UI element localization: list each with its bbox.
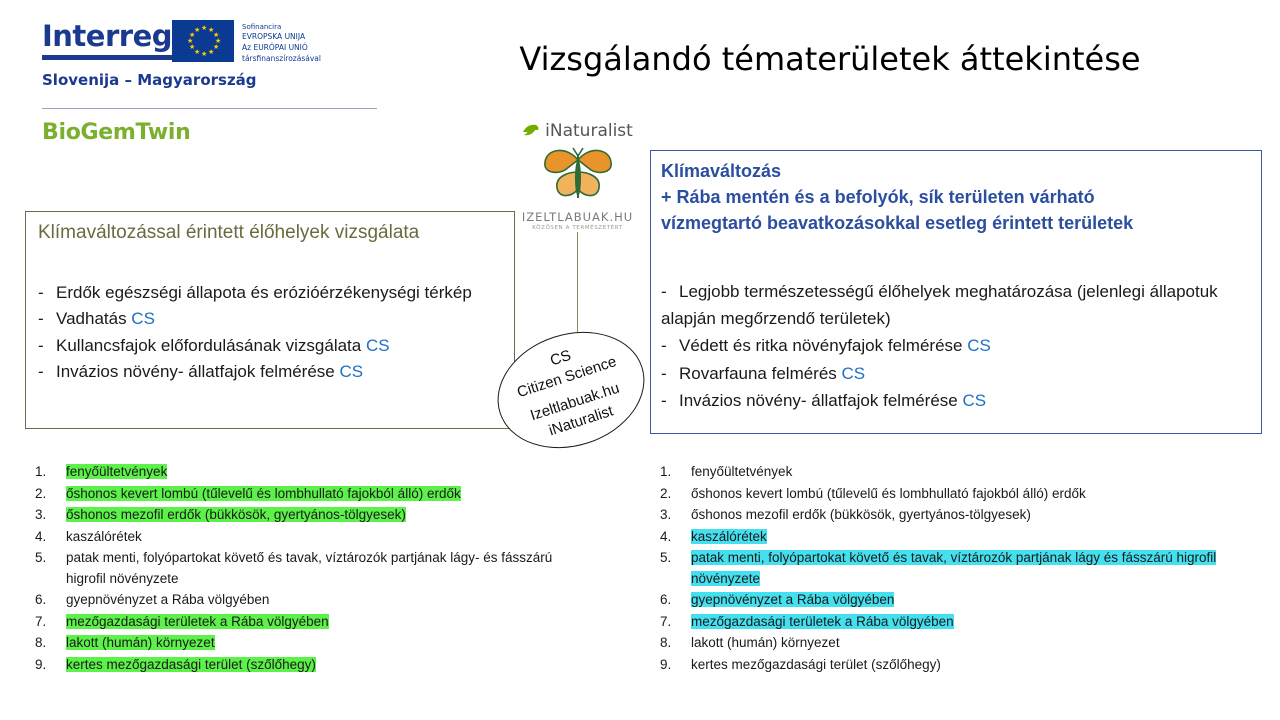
project-name: BioGemTwin — [42, 120, 190, 145]
list-item-text: őshonos mezofil erdők (bükkösök, gyertyá… — [66, 507, 406, 522]
list-item: 1.fenyőültetvények — [655, 462, 1255, 483]
right-box-heading: Klímaváltozás + Rába mentén és a befolyó… — [661, 158, 1261, 236]
list-item-text: őshonos kevert lombú (tűlevelű és lombhu… — [66, 486, 461, 501]
cs-tag: CS — [339, 362, 363, 381]
list-item-text: őshonos kevert lombú (tűlevelű és lombhu… — [691, 486, 1086, 501]
left-box-item-text: Vadhatás — [56, 309, 131, 328]
habitat-list-right: 1.fenyőültetvények2.őshonos kevert lombú… — [655, 462, 1255, 676]
left-box-items: -Erdők egészségi állapota és erózióérzék… — [38, 280, 508, 385]
list-item: 2.őshonos kevert lombú (tűlevelű és lomb… — [30, 484, 590, 505]
left-box-item-text: Invázios növény- állatfajok felmérése — [56, 362, 339, 381]
izeltlabuak-subtitle: KÖZÖSEN A TERMÉSZETÉRT — [505, 225, 650, 231]
list-item: 6.gyepnövényzet a Rába völgyében — [655, 590, 1255, 611]
list-item-text: lakott (humán) környezet — [66, 635, 215, 650]
list-item-text: kertes mezőgazdasági terület (szőlőhegy) — [691, 657, 941, 672]
list-item-number: 8. — [35, 633, 57, 654]
cs-tag: CS — [962, 391, 986, 410]
list-item-number: 3. — [660, 505, 682, 526]
list-item-number: 8. — [660, 633, 682, 654]
eu-text-line-2: EVROPSKA UNIJA — [242, 32, 321, 43]
list-item: 5.patak menti, folyópartokat követő és t… — [655, 548, 1255, 589]
bullet-dash: - — [661, 387, 679, 414]
connector-line — [577, 232, 578, 342]
list-item: 8.lakott (humán) környezet — [655, 633, 1255, 654]
list-item: 9.kertes mezőgazdasági terület (szőlőheg… — [655, 655, 1255, 676]
list-item: 4.kaszálórétek — [655, 527, 1255, 548]
right-box-item: -Védett és ritka növényfajok felmérése C… — [661, 332, 1261, 359]
butterfly-icon — [537, 146, 619, 208]
list-item-number: 6. — [35, 590, 57, 611]
list-item-number: 4. — [660, 527, 682, 548]
left-box-item: -Invázios növény- állatfajok felmérése C… — [38, 359, 508, 385]
list-item-number: 3. — [35, 505, 57, 526]
list-item: 7.mezőgazdasági területek a Rába völgyéb… — [655, 612, 1255, 633]
cs-tag: CS — [967, 336, 991, 355]
bullet-dash: - — [38, 333, 56, 359]
right-box-heading-line-3: vízmegtartó beavatkozásokkal esetleg éri… — [661, 210, 1261, 236]
eu-flag-icon: ★ ★ ★ ★ ★ ★ ★ ★ ★ ★ ★ ★ — [172, 20, 234, 62]
list-item-number: 2. — [660, 484, 682, 505]
right-box-heading-line-2: + Rába mentén és a befolyók, sík terület… — [661, 184, 1261, 210]
eu-text-line-1: Sofinancira — [242, 22, 321, 32]
cs-tag: CS — [366, 336, 390, 355]
list-item-text: lakott (humán) környezet — [691, 635, 840, 650]
cs-tag: CS — [842, 364, 866, 383]
inaturalist-label: iNaturalist — [545, 121, 633, 141]
list-item-text: fenyőültetvények — [66, 464, 167, 479]
cs-tag: CS — [131, 309, 155, 328]
list-item-text: őshonos mezofil erdők (bükkösök, gyertyá… — [691, 507, 1031, 522]
right-box-item: -Rovarfauna felmérés CS — [661, 360, 1261, 387]
list-item: 3.őshonos mezofil erdők (bükkösök, gyert… — [655, 505, 1255, 526]
list-item: 4.kaszálórétek — [30, 527, 590, 548]
list-item-number: 7. — [35, 612, 57, 633]
list-item: 2.őshonos kevert lombú (tűlevelű és lomb… — [655, 484, 1255, 505]
list-item-number: 9. — [35, 655, 57, 676]
eu-cofunding-block: ★ ★ ★ ★ ★ ★ ★ ★ ★ ★ ★ ★ Sofinancira EVRO… — [172, 20, 321, 65]
bird-icon — [522, 123, 540, 139]
list-item: 7.mezőgazdasági területek a Rába völgyéb… — [30, 612, 590, 633]
list-item: 9.kertes mezőgazdasági terület (szőlőheg… — [30, 655, 590, 676]
inaturalist-logo: iNaturalist — [505, 120, 650, 142]
bullet-dash: - — [38, 359, 56, 385]
left-box-item: -Vadhatás CS — [38, 306, 508, 332]
page-title: Vizsgálandó tématerületek áttekintése — [400, 40, 1260, 78]
inaturalist-emblem: iNaturalist IZELTLABUAK.HU KÖZÖSEN A TER… — [505, 120, 650, 231]
list-item-text: patak menti, folyópartokat követő és tav… — [66, 550, 552, 586]
bullet-dash: - — [38, 306, 56, 332]
list-item: 3.őshonos mezofil erdők (bükkösök, gyert… — [30, 505, 590, 526]
right-box-item-text: Invázios növény- állatfajok felmérése — [679, 391, 962, 410]
interreg-programme-label: Slovenija – Magyarország — [42, 71, 382, 89]
list-item: 8.lakott (humán) környezet — [30, 633, 590, 654]
list-item-text: mezőgazdasági területek a Rába völgyében — [691, 614, 954, 629]
list-item-number: 4. — [35, 527, 57, 548]
butterfly-icon-svg — [537, 146, 619, 208]
list-item-text: patak menti, folyópartokat követő és tav… — [691, 550, 1216, 586]
list-item-text: kaszálórétek — [691, 529, 767, 544]
list-item: 1.fenyőültetvények — [30, 462, 590, 483]
eu-text-line-4: társfinanszírozásával — [242, 54, 321, 65]
left-box-item-text: Kullancsfajok előfordulásának vizsgálata — [56, 336, 366, 355]
list-item-number: 9. — [660, 655, 682, 676]
right-box-items: -Legjobb természetességű élőhelyek megha… — [661, 278, 1261, 414]
izeltlabuak-title: IZELTLABUAK.HU — [505, 210, 650, 224]
right-box-item: -Invázios növény- állatfajok felmérése C… — [661, 387, 1261, 414]
bird-icon-svg — [522, 123, 540, 139]
right-box-item: -Legjobb természetességű élőhelyek megha… — [661, 278, 1261, 332]
list-item-number: 5. — [35, 548, 57, 569]
left-box-item: -Kullancsfajok előfordulásának vizsgálat… — [38, 333, 508, 359]
list-item-text: fenyőültetvények — [691, 464, 792, 479]
eu-text-line-3: Az EURÓPAI UNIÓ — [242, 43, 321, 54]
right-box-item-text: Védett és ritka növényfajok felmérése — [679, 336, 967, 355]
right-box-item-text: Rovarfauna felmérés — [679, 364, 842, 383]
left-box-item-text: Erdők egészségi állapota és erózióérzéke… — [56, 283, 472, 302]
bullet-dash: - — [661, 360, 679, 387]
eu-cofunding-text: Sofinancira EVROPSKA UNIJA Az EURÓPAI UN… — [242, 20, 321, 65]
list-item-number: 6. — [660, 590, 682, 611]
list-item-number: 5. — [660, 548, 682, 569]
bullet-dash: - — [661, 278, 679, 305]
interreg-underline-bar — [42, 55, 174, 60]
left-box-heading: Klímaváltozással érintett élőhelyek vizs… — [38, 222, 419, 244]
list-item-text: kaszálórétek — [66, 529, 142, 544]
right-box-item-text: Legjobb természetességű élőhelyek meghat… — [661, 282, 1218, 328]
right-box-heading-line-1: Klímaváltozás — [661, 158, 1261, 184]
list-item-number: 7. — [660, 612, 682, 633]
logo-divider — [42, 108, 377, 109]
list-item: 5.patak menti, folyópartokat követő és t… — [30, 548, 590, 589]
list-item-text: kertes mezőgazdasági terület (szőlőhegy) — [66, 657, 316, 672]
list-item: 6.gyepnövényzet a Rába völgyében — [30, 590, 590, 611]
list-item-text: mezőgazdasági területek a Rába völgyében — [66, 614, 329, 629]
habitat-list-left: 1.fenyőültetvények2.őshonos kevert lombú… — [30, 462, 590, 676]
list-item-number: 1. — [660, 462, 682, 483]
list-item-number: 1. — [35, 462, 57, 483]
list-item-text: gyepnövényzet a Rába völgyében — [66, 592, 269, 607]
list-item-number: 2. — [35, 484, 57, 505]
izeltlabuak-logo: IZELTLABUAK.HU KÖZÖSEN A TERMÉSZETÉRT — [505, 146, 650, 231]
bullet-dash: - — [661, 332, 679, 359]
bullet-dash: - — [38, 280, 56, 306]
list-item-text: gyepnövényzet a Rába völgyében — [691, 592, 894, 607]
left-box-item: -Erdők egészségi állapota és erózióérzék… — [38, 280, 508, 306]
